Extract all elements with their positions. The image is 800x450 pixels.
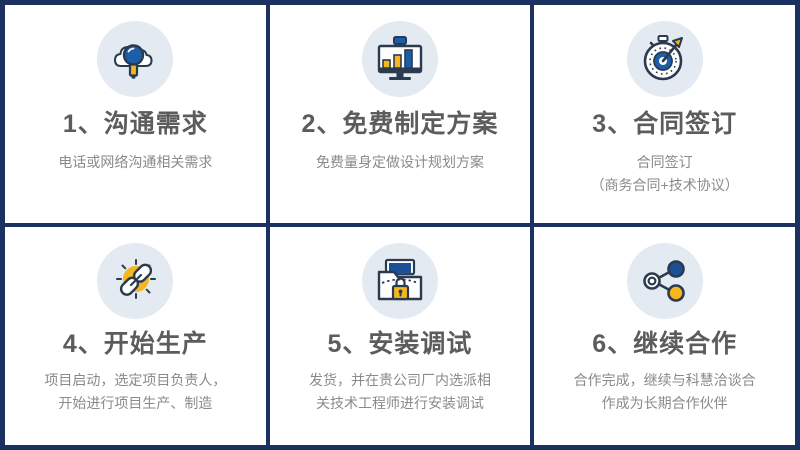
process-step-title: 6、继续合作	[592, 331, 737, 359]
process-step-6[interactable]: 6、继续合作 合作完成，继续与科慧洽谈合 作成为长期合作伙伴	[534, 227, 795, 445]
share-nodes-icon	[627, 243, 703, 319]
process-step-desc: 合同签订 （商务合同+技术协议）	[591, 151, 739, 197]
process-step-title: 5、安装调试	[328, 331, 473, 359]
process-step-desc: 电话或网络沟通相关需求	[58, 151, 212, 174]
process-step-title: 2、免费制定方案	[302, 111, 499, 139]
process-step-1[interactable]: 1、沟通需求 电话或网络沟通相关需求	[5, 5, 266, 223]
service-process-grid: 1、沟通需求 电话或网络沟通相关需求 2、免费制定方案 免费量身定做设计规划方案	[0, 0, 800, 450]
process-step-title: 3、合同签订	[592, 111, 737, 139]
monitor-bar-chart-icon	[362, 21, 438, 97]
stopwatch-target-arrow-icon	[627, 21, 703, 97]
process-step-desc: 项目启动，选定项目负责人， 开始进行项目生产、制造	[44, 369, 226, 415]
process-step-2[interactable]: 2、免费制定方案 免费量身定做设计规划方案	[270, 5, 531, 223]
process-step-title: 1、沟通需求	[63, 111, 208, 139]
process-step-3[interactable]: 3、合同签订 合同签订 （商务合同+技术协议）	[534, 5, 795, 223]
folder-lock-icon	[362, 243, 438, 319]
process-step-desc: 免费量身定做设计规划方案	[316, 151, 484, 174]
process-step-desc: 发货，并在贵公司厂内选派相 关技术工程师进行安装调试	[309, 369, 491, 415]
process-step-5[interactable]: 5、安装调试 发货，并在贵公司厂内选派相 关技术工程师进行安装调试	[270, 227, 531, 445]
chain-link-sunburst-icon	[97, 243, 173, 319]
process-step-desc: 合作完成，继续与科慧洽谈合 作成为长期合作伙伴	[574, 369, 756, 415]
cloud-magnifier-icon	[97, 21, 173, 97]
process-step-4[interactable]: 4、开始生产 项目启动，选定项目负责人， 开始进行项目生产、制造	[5, 227, 266, 445]
process-step-title: 4、开始生产	[63, 331, 208, 359]
